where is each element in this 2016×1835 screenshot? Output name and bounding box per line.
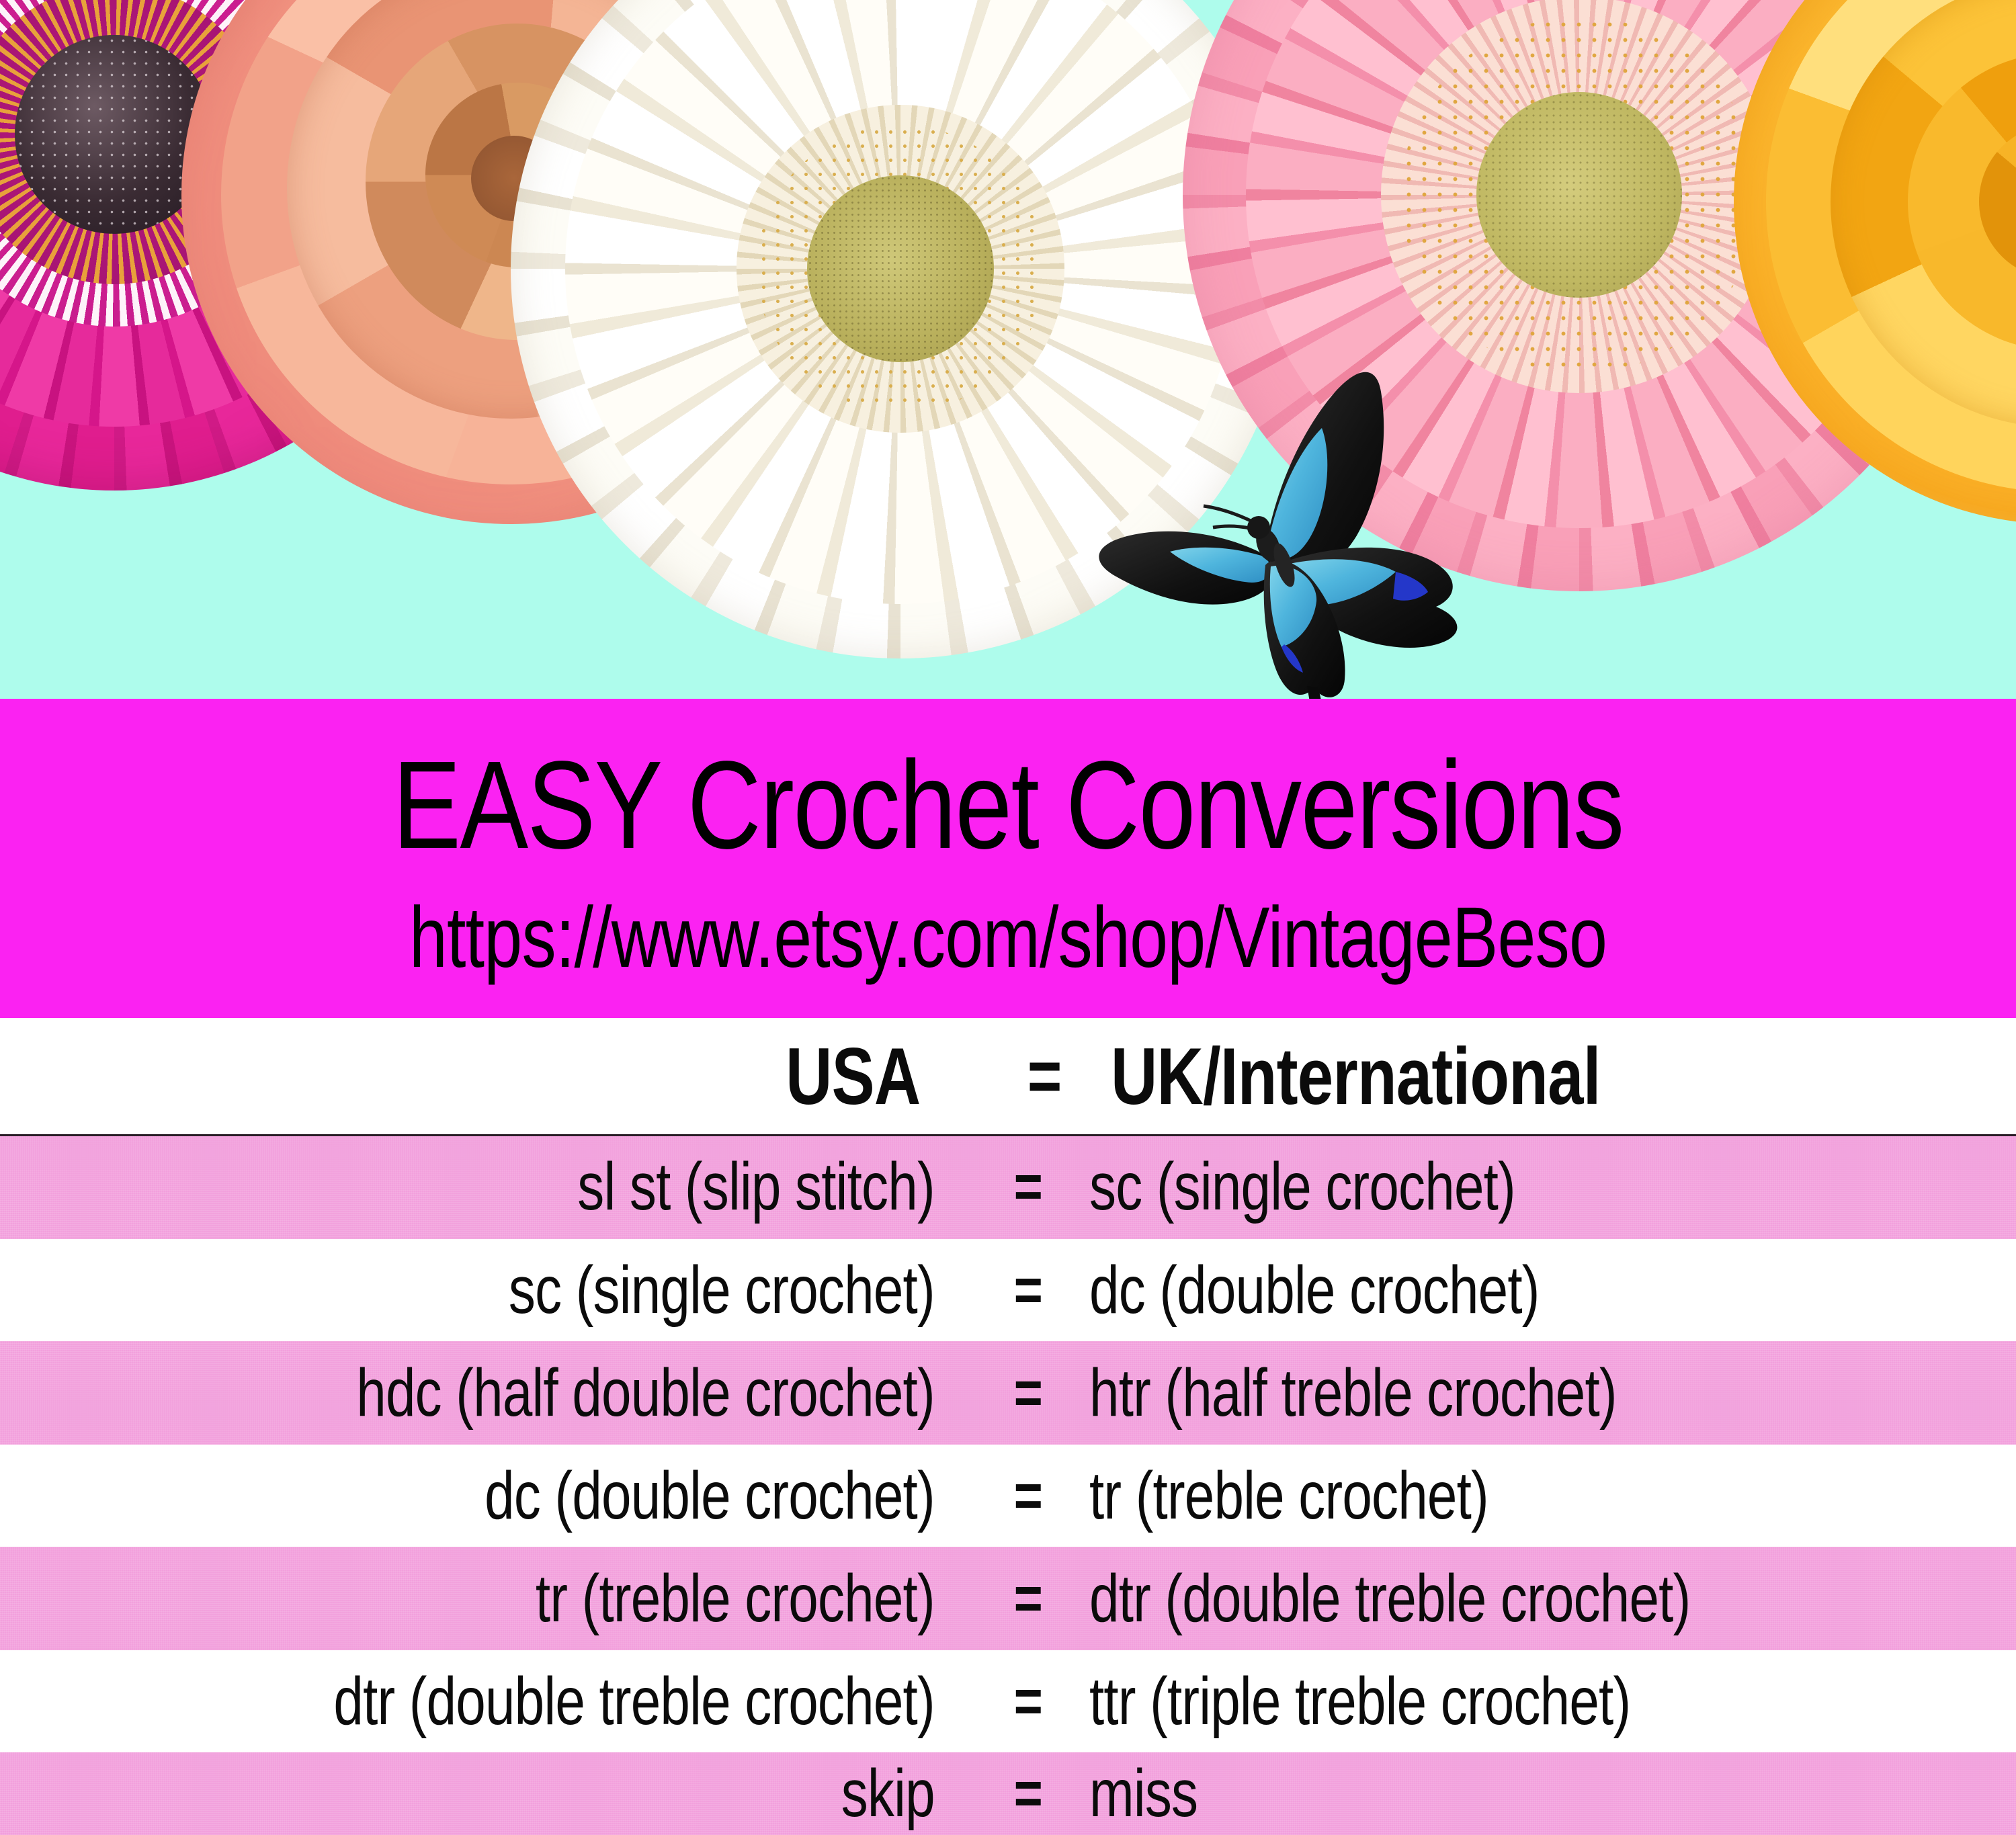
page-title: EASY Crochet Conversions bbox=[181, 699, 1835, 868]
usa-term: tr (treble crochet) bbox=[197, 1560, 983, 1637]
equals-sign: = bbox=[992, 1666, 1064, 1737]
equals-sign: = bbox=[992, 1758, 1064, 1829]
table-row: dc (double crochet) = tr (treble crochet… bbox=[0, 1445, 2016, 1547]
uk-term: ttr (triple treble crochet) bbox=[1073, 1663, 1827, 1740]
table-row: skip = miss bbox=[0, 1752, 2016, 1835]
table-row: hdc (half double crochet) = htr (half tr… bbox=[0, 1341, 2016, 1445]
equals-sign: = bbox=[992, 1461, 1064, 1531]
usa-term: sc (single crochet) bbox=[197, 1252, 983, 1329]
floral-banner bbox=[0, 0, 2016, 699]
equals-sign: = bbox=[992, 1152, 1064, 1222]
usa-term: dc (double crochet) bbox=[197, 1457, 983, 1535]
table-row: dtr (double treble crochet) = ttr (tripl… bbox=[0, 1650, 2016, 1752]
column-header-usa: USA bbox=[200, 1030, 1001, 1123]
column-header-equals: = bbox=[1010, 1033, 1081, 1119]
table-row: tr (treble crochet) = dtr (double treble… bbox=[0, 1547, 2016, 1650]
uk-term: tr (treble crochet) bbox=[1073, 1457, 1827, 1535]
usa-term: sl st (slip stitch) bbox=[197, 1148, 983, 1226]
table-row: sc (single crochet) = dc (double crochet… bbox=[0, 1239, 2016, 1341]
column-header-uk: UK/International bbox=[1089, 1030, 1831, 1123]
uk-term: dtr (double treble crochet) bbox=[1073, 1560, 1827, 1637]
uk-term: miss bbox=[1073, 1755, 1827, 1832]
equals-sign: = bbox=[992, 1358, 1064, 1428]
usa-term: skip bbox=[197, 1755, 983, 1832]
uk-term: dc (double crochet) bbox=[1073, 1252, 1827, 1329]
equals-sign: = bbox=[992, 1564, 1064, 1634]
yellow-rose-image bbox=[1734, 0, 2016, 524]
uk-term: sc (single crochet) bbox=[1073, 1148, 1827, 1226]
usa-term: dtr (double treble crochet) bbox=[197, 1663, 983, 1740]
conversion-table: USA = UK/International sl st (slip stitc… bbox=[0, 1018, 2016, 1835]
blue-ulysses-butterfly-icon bbox=[1085, 359, 1482, 699]
crochet-conversion-infographic: EASY Crochet Conversions https://www.ets… bbox=[0, 0, 2016, 1835]
table-row: sl st (slip stitch) = sc (single crochet… bbox=[0, 1134, 2016, 1239]
title-band: EASY Crochet Conversions https://www.ets… bbox=[0, 699, 2016, 1018]
equals-sign: = bbox=[992, 1255, 1064, 1326]
usa-term: hdc (half double crochet) bbox=[197, 1355, 983, 1432]
shop-url-text[interactable]: https://www.etsy.com/shop/VintageBeso bbox=[202, 868, 1814, 981]
table-header-row: USA = UK/International bbox=[0, 1018, 2016, 1134]
uk-term: htr (half treble crochet) bbox=[1073, 1355, 1827, 1432]
